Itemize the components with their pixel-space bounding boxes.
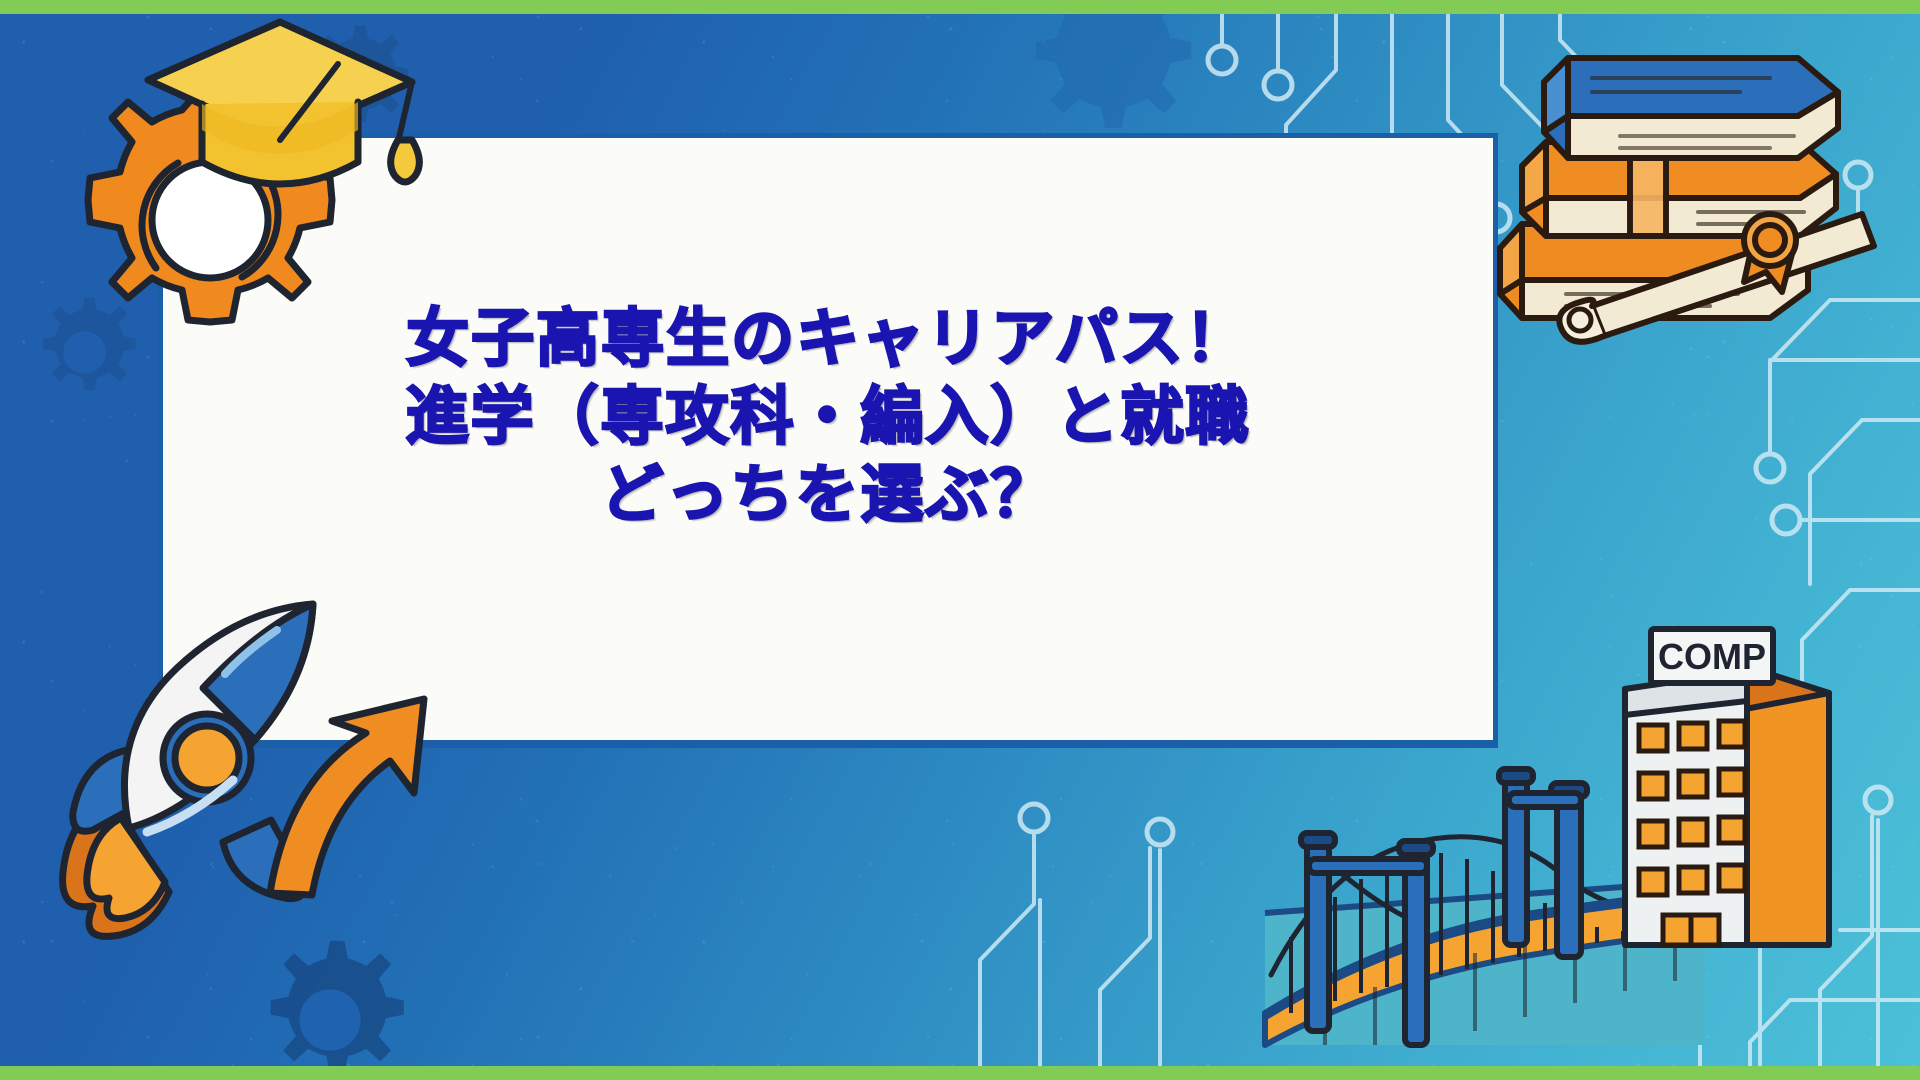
title-line-2: 進学（専攻科・編入）と就職: [158, 378, 1498, 456]
banner-canvas: 女子高専生のキャリアパス！ 進学（専攻科・編入）と就職 どっちを選ぶ？: [0, 0, 1920, 1080]
building-sign-label: COMP: [1658, 636, 1766, 677]
office-building-icon: COMP: [1615, 615, 1845, 945]
graduation-cap-icon: [140, 10, 420, 230]
title-line-3: どっちを選ぶ？: [158, 456, 1498, 534]
ghost-gear-icon: [240, 930, 420, 1080]
book-stack-icon: [1470, 18, 1890, 338]
bottom-accent-bar: [0, 1066, 1920, 1080]
top-accent-bar: [0, 0, 1920, 14]
growth-arrow-icon: [240, 655, 490, 905]
